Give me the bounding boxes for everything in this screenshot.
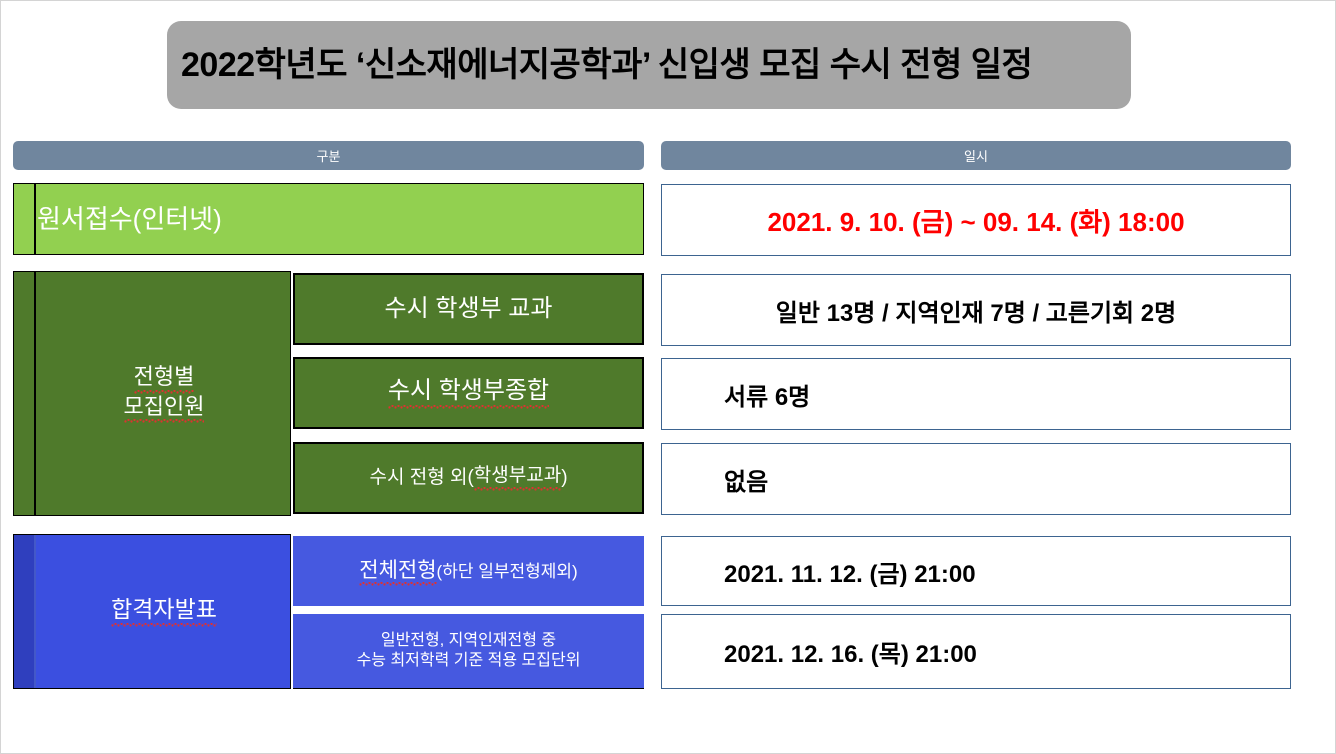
subrow-susi-etc: 수시 전형 외(학생부교과) [293,442,644,514]
subrow-susi-jonghap: 수시 학생부종합 [293,357,644,429]
row-quota-label: 전형별 모집인원 [37,271,291,516]
row-announcement-label-text: 합격자발표 [111,596,217,627]
subrow-all-types-main: 전체전형 [359,559,436,586]
row-application-label: 원서접수(인터넷) [37,183,337,255]
subrow-susi-etc-label-c: ) [561,467,567,490]
subrow-susi-gyogwa-label: 수시 학생부 교과 [385,295,553,324]
value-application-period: 2021. 9. 10. (금) ~ 09. 14. (화) 18:00 [661,184,1291,256]
value-quota-etc: 없음 [661,443,1291,515]
subrow-all-types-wrap: 전체전형(하단 일부전형제외) [359,558,577,584]
value-announcement-minimum-text: 2021. 12. 16. (목) 21:00 [724,634,977,669]
value-quota-jonghap: 서류 6명 [661,358,1291,430]
value-quota-jonghap-text: 서류 6명 [724,377,810,412]
value-quota-gyogwa-text: 일반 13명 / 지역인재 7명 / 고른기회 2명 [776,293,1176,328]
row-quota-stripe [14,272,36,515]
row-quota-label-line1: 전형별 [134,364,195,394]
value-announcement-minimum: 2021. 12. 16. (목) 21:00 [661,614,1291,689]
subrow-minimum-standard-lines: 일반전형, 지역인재전형 중 수능 최저학력 기준 적용 모집단위 [357,631,581,670]
slide-canvas: 2022학년도 ‘신소재에너지공학과’ 신입생 모집 수시 전형 일정 구분 일… [0,0,1336,754]
row-announcement-label: 합격자발표 [37,534,291,689]
value-quota-etc-text: 없음 [724,462,768,497]
subrow-minimum-standard: 일반전형, 지역인재전형 중 수능 최저학력 기준 적용 모집단위 [293,614,644,689]
row-quota-label-line2: 모집인원 [124,394,205,424]
value-application-period-text: 2021. 9. 10. (금) ~ 09. 14. (화) 18:00 [767,202,1184,239]
column-header-datetime: 일시 [661,141,1291,170]
value-quota-gyogwa: 일반 13명 / 지역인재 7명 / 고른기회 2명 [661,274,1291,346]
column-header-category-label: 구분 [317,146,341,165]
page-title: 2022학년도 ‘신소재에너지공학과’ 신입생 모집 수시 전형 일정 [181,37,1101,86]
subrow-minimum-standard-line1: 일반전형, 지역인재전형 중 [357,631,581,651]
row-application-stripe [14,184,36,254]
value-announcement-all-text: 2021. 11. 12. (금) 21:00 [724,554,976,589]
subrow-susi-etc-label-b: 학생부교과 [474,465,561,492]
subrow-susi-gyogwa: 수시 학생부 교과 [293,273,644,345]
column-header-datetime-label: 일시 [964,146,988,165]
subrow-susi-etc-label-a: 수시 전형 외( [369,467,473,490]
title-box: 2022학년도 ‘신소재에너지공학과’ 신입생 모집 수시 전형 일정 [167,21,1131,109]
subrow-susi-jonghap-label: 수시 학생부종합 [388,377,549,410]
subrow-all-types: 전체전형(하단 일부전형제외) [293,536,644,606]
subrow-minimum-standard-line2: 수능 최저학력 기준 적용 모집단위 [357,651,581,671]
column-header-category: 구분 [13,141,644,170]
row-announcement-stripe [14,535,36,688]
value-announcement-all: 2021. 11. 12. (금) 21:00 [661,536,1291,606]
subrow-all-types-sub: (하단 일부전형제외) [437,562,578,581]
